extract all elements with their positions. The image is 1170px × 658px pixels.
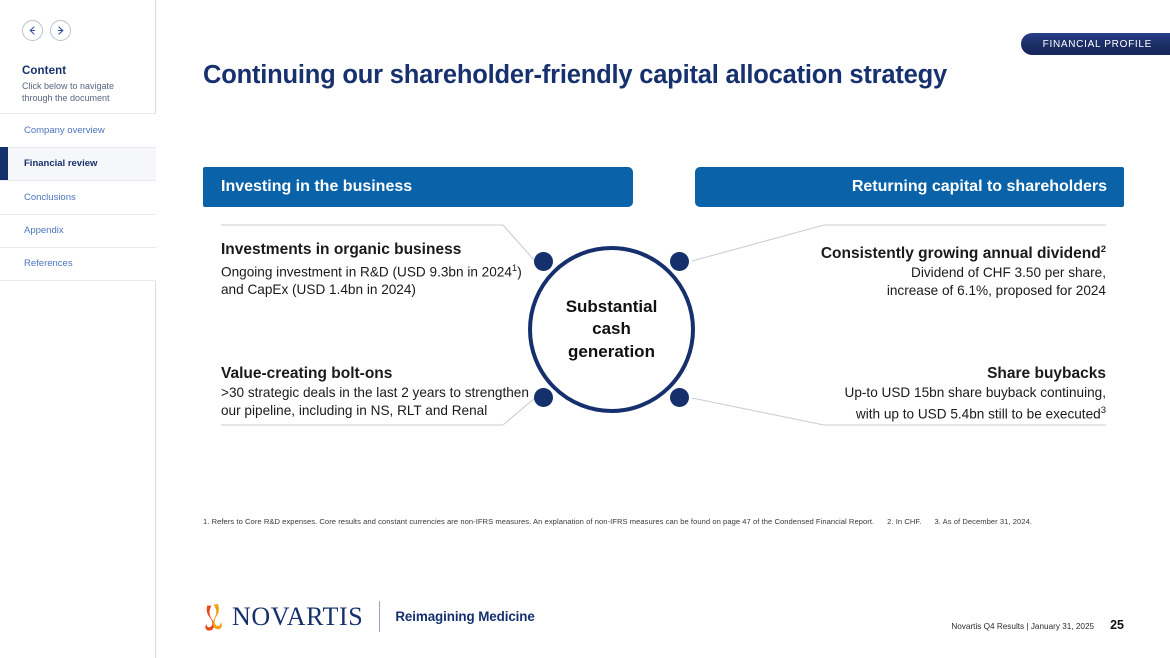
quadrant-body: Ongoing investment in R&D (USD 9.3bn in … bbox=[221, 260, 576, 299]
footnote-1: 1. Refers to Core R&D expenses. Core res… bbox=[203, 517, 874, 526]
quadrant-body-line2: and CapEx (USD 1.4bn in 2024) bbox=[221, 282, 416, 297]
quadrant-body-line1: >30 strategic deals in the last 2 years … bbox=[221, 385, 529, 400]
footer-right: Novartis Q4 Results | January 31, 2025 2… bbox=[951, 618, 1124, 632]
capital-allocation-diagram: Investments in organic business Ongoing … bbox=[203, 216, 1124, 434]
circle-node-top-right bbox=[670, 252, 689, 271]
content-heading: Content bbox=[22, 64, 147, 79]
status-badge-label: FINANCIAL PROFILE bbox=[1043, 39, 1152, 50]
logo-divider bbox=[379, 601, 380, 632]
novartis-logo: NOVARTIS Reimagining Medicine bbox=[203, 601, 535, 632]
quadrant-body-line1: Dividend of CHF 3.50 per share, bbox=[911, 265, 1106, 280]
sidebar-item-conclusions[interactable]: Conclusions bbox=[0, 180, 156, 214]
sidebar-item-label: References bbox=[24, 258, 73, 269]
page-number: 25 bbox=[1110, 618, 1124, 632]
quadrant-body-line2: our pipeline, including in NS, RLT and R… bbox=[221, 403, 487, 418]
content-heading-block: Content Click below to navigate through … bbox=[22, 64, 147, 104]
page-title: Continuing our shareholder-friendly capi… bbox=[203, 61, 947, 90]
quadrant-body-line1-post: ) bbox=[517, 265, 522, 280]
sidebar-item-label: Company overview bbox=[24, 125, 105, 136]
sidebar-nav-arrows bbox=[22, 20, 71, 41]
footnotes: 1. Refers to Core R&D expenses. Core res… bbox=[203, 517, 1032, 526]
quadrant-investments-organic: Investments in organic business Ongoing … bbox=[221, 240, 576, 299]
sidebar-item-company-overview[interactable]: Company overview bbox=[0, 113, 156, 147]
quadrant-body-line1: Up-to USD 15bn share buyback continuing, bbox=[845, 385, 1106, 400]
content-subheading-line1: Click below to navigate bbox=[22, 81, 114, 91]
circle-label-line3: generation bbox=[568, 341, 655, 364]
footer-meta: Novartis Q4 Results | January 31, 2025 bbox=[951, 622, 1094, 631]
sidebar-item-financial-review[interactable]: Financial review bbox=[0, 147, 156, 181]
sidebar-item-references[interactable]: References bbox=[0, 247, 156, 281]
quadrant-growing-dividend: Consistently growing annual dividend2 Di… bbox=[751, 240, 1106, 299]
sidebar-item-label: Appendix bbox=[24, 225, 64, 236]
sidebar-item-label: Conclusions bbox=[24, 192, 76, 203]
content-subheading-line2: through the document bbox=[22, 93, 110, 103]
slide-canvas: FINANCIAL PROFILE Continuing our shareho… bbox=[157, 0, 1170, 658]
quadrant-body: Up-to USD 15bn share buyback continuing,… bbox=[751, 384, 1106, 423]
quadrant-title: Share buybacks bbox=[751, 364, 1106, 383]
footnote-ref-3: 3 bbox=[1101, 405, 1106, 416]
arrow-right-icon bbox=[55, 25, 66, 36]
circle-label-line2: cash bbox=[592, 318, 631, 341]
sidebar: Content Click below to navigate through … bbox=[0, 0, 156, 658]
logo-wordmark: NOVARTIS bbox=[232, 604, 363, 630]
circle-node-bottom-right bbox=[670, 388, 689, 407]
quadrant-body-line1-pre: Ongoing investment in R&D (USD 9.3bn in … bbox=[221, 265, 512, 280]
section-bar-label: Returning capital to shareholders bbox=[852, 178, 1107, 196]
forward-button[interactable] bbox=[50, 20, 71, 41]
content-subheading: Click below to navigate through the docu… bbox=[22, 81, 147, 104]
footnote-3: 3. As of December 31, 2024. bbox=[934, 517, 1032, 526]
circle-label: Substantial cash generation bbox=[528, 246, 695, 413]
status-badge-financial-profile[interactable]: FINANCIAL PROFILE bbox=[1021, 33, 1170, 55]
quadrant-share-buybacks: Share buybacks Up-to USD 15bn share buyb… bbox=[751, 364, 1106, 423]
central-circle: Substantial cash generation bbox=[528, 246, 695, 413]
sidebar-item-appendix[interactable]: Appendix bbox=[0, 214, 156, 248]
quadrant-title-text: Consistently growing annual dividend bbox=[821, 245, 1101, 262]
circle-node-top-left bbox=[534, 252, 553, 271]
quadrant-value-creating-bolt-ons: Value-creating bolt-ons >30 strategic de… bbox=[221, 364, 576, 419]
circle-label-line1: Substantial bbox=[566, 296, 658, 319]
footnote-ref-2: 2 bbox=[1101, 244, 1106, 255]
quadrant-body: Dividend of CHF 3.50 per share, increase… bbox=[751, 264, 1106, 299]
quadrant-body-line2: increase of 6.1%, proposed for 2024 bbox=[887, 283, 1106, 298]
section-bar-returning[interactable]: Returning capital to shareholders bbox=[695, 167, 1124, 207]
back-button[interactable] bbox=[22, 20, 43, 41]
logo-tagline: Reimagining Medicine bbox=[395, 609, 534, 624]
sidebar-item-label: Financial review bbox=[24, 158, 97, 169]
section-bar-investing[interactable]: Investing in the business bbox=[203, 167, 633, 207]
arrow-left-icon bbox=[27, 25, 38, 36]
section-bar-label: Investing in the business bbox=[221, 178, 412, 196]
novartis-flame-icon bbox=[203, 602, 225, 632]
quadrant-title: Investments in organic business bbox=[221, 240, 576, 259]
quadrant-title: Consistently growing annual dividend2 bbox=[751, 240, 1106, 263]
circle-node-bottom-left bbox=[534, 388, 553, 407]
quadrant-body: >30 strategic deals in the last 2 years … bbox=[221, 384, 576, 419]
quadrant-body-line2-pre: with up to USD 5.4bn still to be execute… bbox=[856, 406, 1101, 421]
table-of-contents: Company overview Financial review Conclu… bbox=[0, 113, 156, 281]
quadrant-title: Value-creating bolt-ons bbox=[221, 364, 576, 383]
footnote-2: 2. In CHF. bbox=[887, 517, 921, 526]
